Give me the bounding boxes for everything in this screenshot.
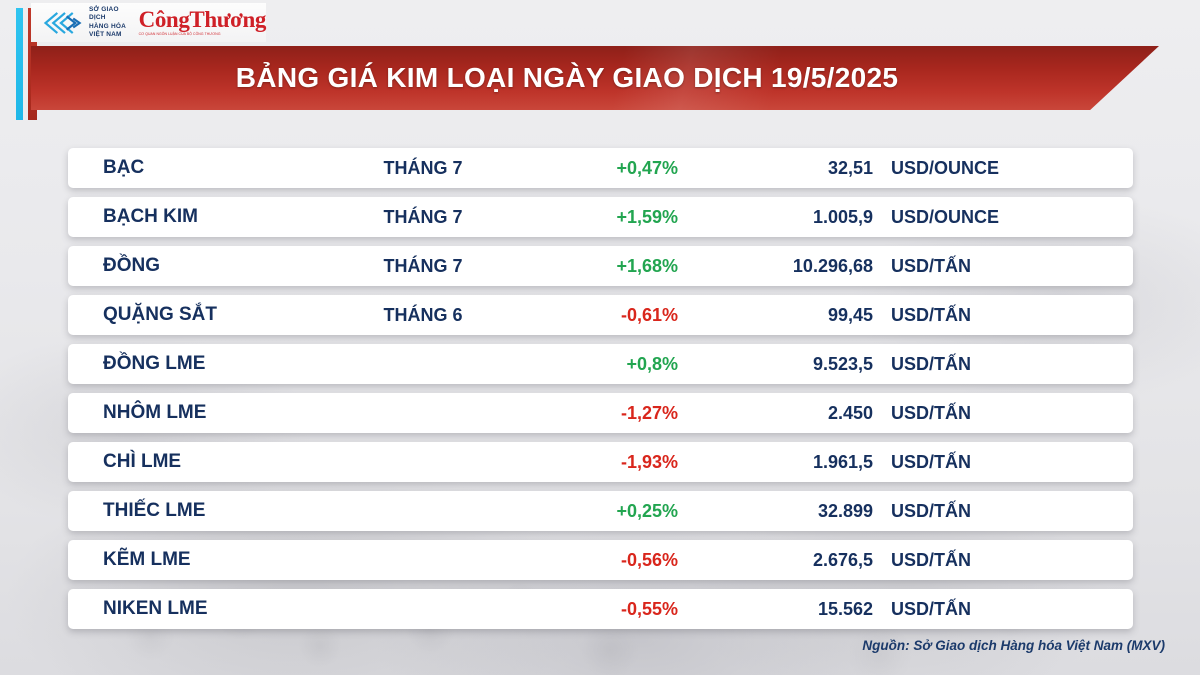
table-row: ĐỒNG LME +0,8% 9.523,5 USD/TẤN (68, 344, 1133, 384)
table-row: CHÌ LME -1,93% 1.961,5 USD/TẤN (68, 442, 1133, 482)
metal-change: +0,25% (508, 501, 678, 522)
metal-unit: USD/TẤN (873, 354, 1133, 375)
metal-name: CHÌ LME (68, 451, 338, 473)
metal-name: BẠC (68, 157, 338, 179)
metal-unit: USD/TẤN (873, 256, 1133, 277)
metal-name: BẠCH KIM (68, 206, 338, 228)
metal-unit: USD/OUNCE (873, 207, 1133, 228)
metal-change: -1,93% (508, 452, 678, 473)
metal-unit: USD/TẤN (873, 599, 1133, 620)
table-row: THIẾC LME +0,25% 32.899 USD/TẤN (68, 491, 1133, 531)
metal-unit: USD/OUNCE (873, 158, 1133, 179)
metal-price: 32,51 (678, 158, 873, 179)
metal-price-table: BẠC THÁNG 7 +0,47% 32,51 USD/OUNCE BẠCH … (68, 148, 1133, 638)
publication-logo: CôngThương CƠ QUAN NGÔN LUẬN CỦA BỘ CÔNG… (139, 9, 266, 36)
metal-month: THÁNG 7 (338, 207, 508, 228)
metal-change: -0,61% (508, 305, 678, 326)
source-credit: Nguồn: Sở Giao dịch Hàng hóa Việt Nam (M… (862, 638, 1165, 653)
metal-price: 10.296,68 (678, 256, 873, 277)
metal-name: ĐỒNG LME (68, 353, 338, 375)
logo-bar: SỞ GIAO DỊCH HÀNG HÓA VIỆT NAM CôngThươn… (31, 3, 266, 42)
metal-change: -1,27% (508, 403, 678, 424)
metal-month: THÁNG 7 (338, 158, 508, 179)
table-row: BẠCH KIM THÁNG 7 +1,59% 1.005,9 USD/OUNC… (68, 197, 1133, 237)
accent-stripe-cyan (16, 8, 23, 120)
metal-unit: USD/TẤN (873, 550, 1133, 571)
metal-price: 15.562 (678, 599, 873, 620)
publication-subtitle: CƠ QUAN NGÔN LUẬN CỦA BỘ CÔNG THƯƠNG (139, 32, 266, 36)
metal-name: THIẾC LME (68, 500, 338, 522)
metal-month: THÁNG 6 (338, 305, 508, 326)
table-row: QUẶNG SẮT THÁNG 6 -0,61% 99,45 USD/TẤN (68, 295, 1133, 335)
metal-price: 1.005,9 (678, 207, 873, 228)
metal-name: QUẶNG SẮT (68, 304, 338, 326)
metal-unit: USD/TẤN (873, 403, 1133, 424)
publication-name: CôngThương (139, 9, 266, 31)
table-row: NHÔM LME -1,27% 2.450 USD/TẤN (68, 393, 1133, 433)
metal-price: 2.450 (678, 403, 873, 424)
metal-unit: USD/TẤN (873, 452, 1133, 473)
table-row: BẠC THÁNG 7 +0,47% 32,51 USD/OUNCE (68, 148, 1133, 188)
metal-change: +0,8% (508, 354, 678, 375)
metal-change: -0,56% (508, 550, 678, 571)
metal-name: ĐỒNG (68, 255, 338, 277)
metal-name: KẼM LME (68, 549, 338, 571)
metal-month: THÁNG 7 (338, 256, 508, 277)
metal-unit: USD/TẤN (873, 501, 1133, 522)
page-title: BẢNG GIÁ KIM LOẠI NGÀY GIAO DỊCH 19/5/20… (236, 62, 898, 94)
metal-name: NHÔM LME (68, 402, 338, 424)
metal-unit: USD/TẤN (873, 305, 1133, 326)
metal-price: 1.961,5 (678, 452, 873, 473)
metal-price: 2.676,5 (678, 550, 873, 571)
infographic-page: SỞ GIAO DỊCH HÀNG HÓA VIỆT NAM CôngThươn… (0, 0, 1200, 675)
metal-change: -0,55% (508, 599, 678, 620)
mxv-chevron-logo-icon (40, 10, 84, 36)
metal-change: +1,68% (508, 256, 678, 277)
title-banner: BẢNG GIÁ KIM LOẠI NGÀY GIAO DỊCH 19/5/20… (31, 46, 1159, 110)
metal-price: 32.899 (678, 501, 873, 522)
metal-price: 9.523,5 (678, 354, 873, 375)
metal-change: +1,59% (508, 207, 678, 228)
table-row: ĐỒNG THÁNG 7 +1,68% 10.296,68 USD/TẤN (68, 246, 1133, 286)
metal-price: 99,45 (678, 305, 873, 326)
metal-name: NIKEN LME (68, 598, 338, 620)
metal-change: +0,47% (508, 158, 678, 179)
mxv-logo-text: SỞ GIAO DỊCH HÀNG HÓA VIỆT NAM (89, 6, 130, 38)
table-row: NIKEN LME -0,55% 15.562 USD/TẤN (68, 589, 1133, 629)
table-row: KẼM LME -0,56% 2.676,5 USD/TẤN (68, 540, 1133, 580)
